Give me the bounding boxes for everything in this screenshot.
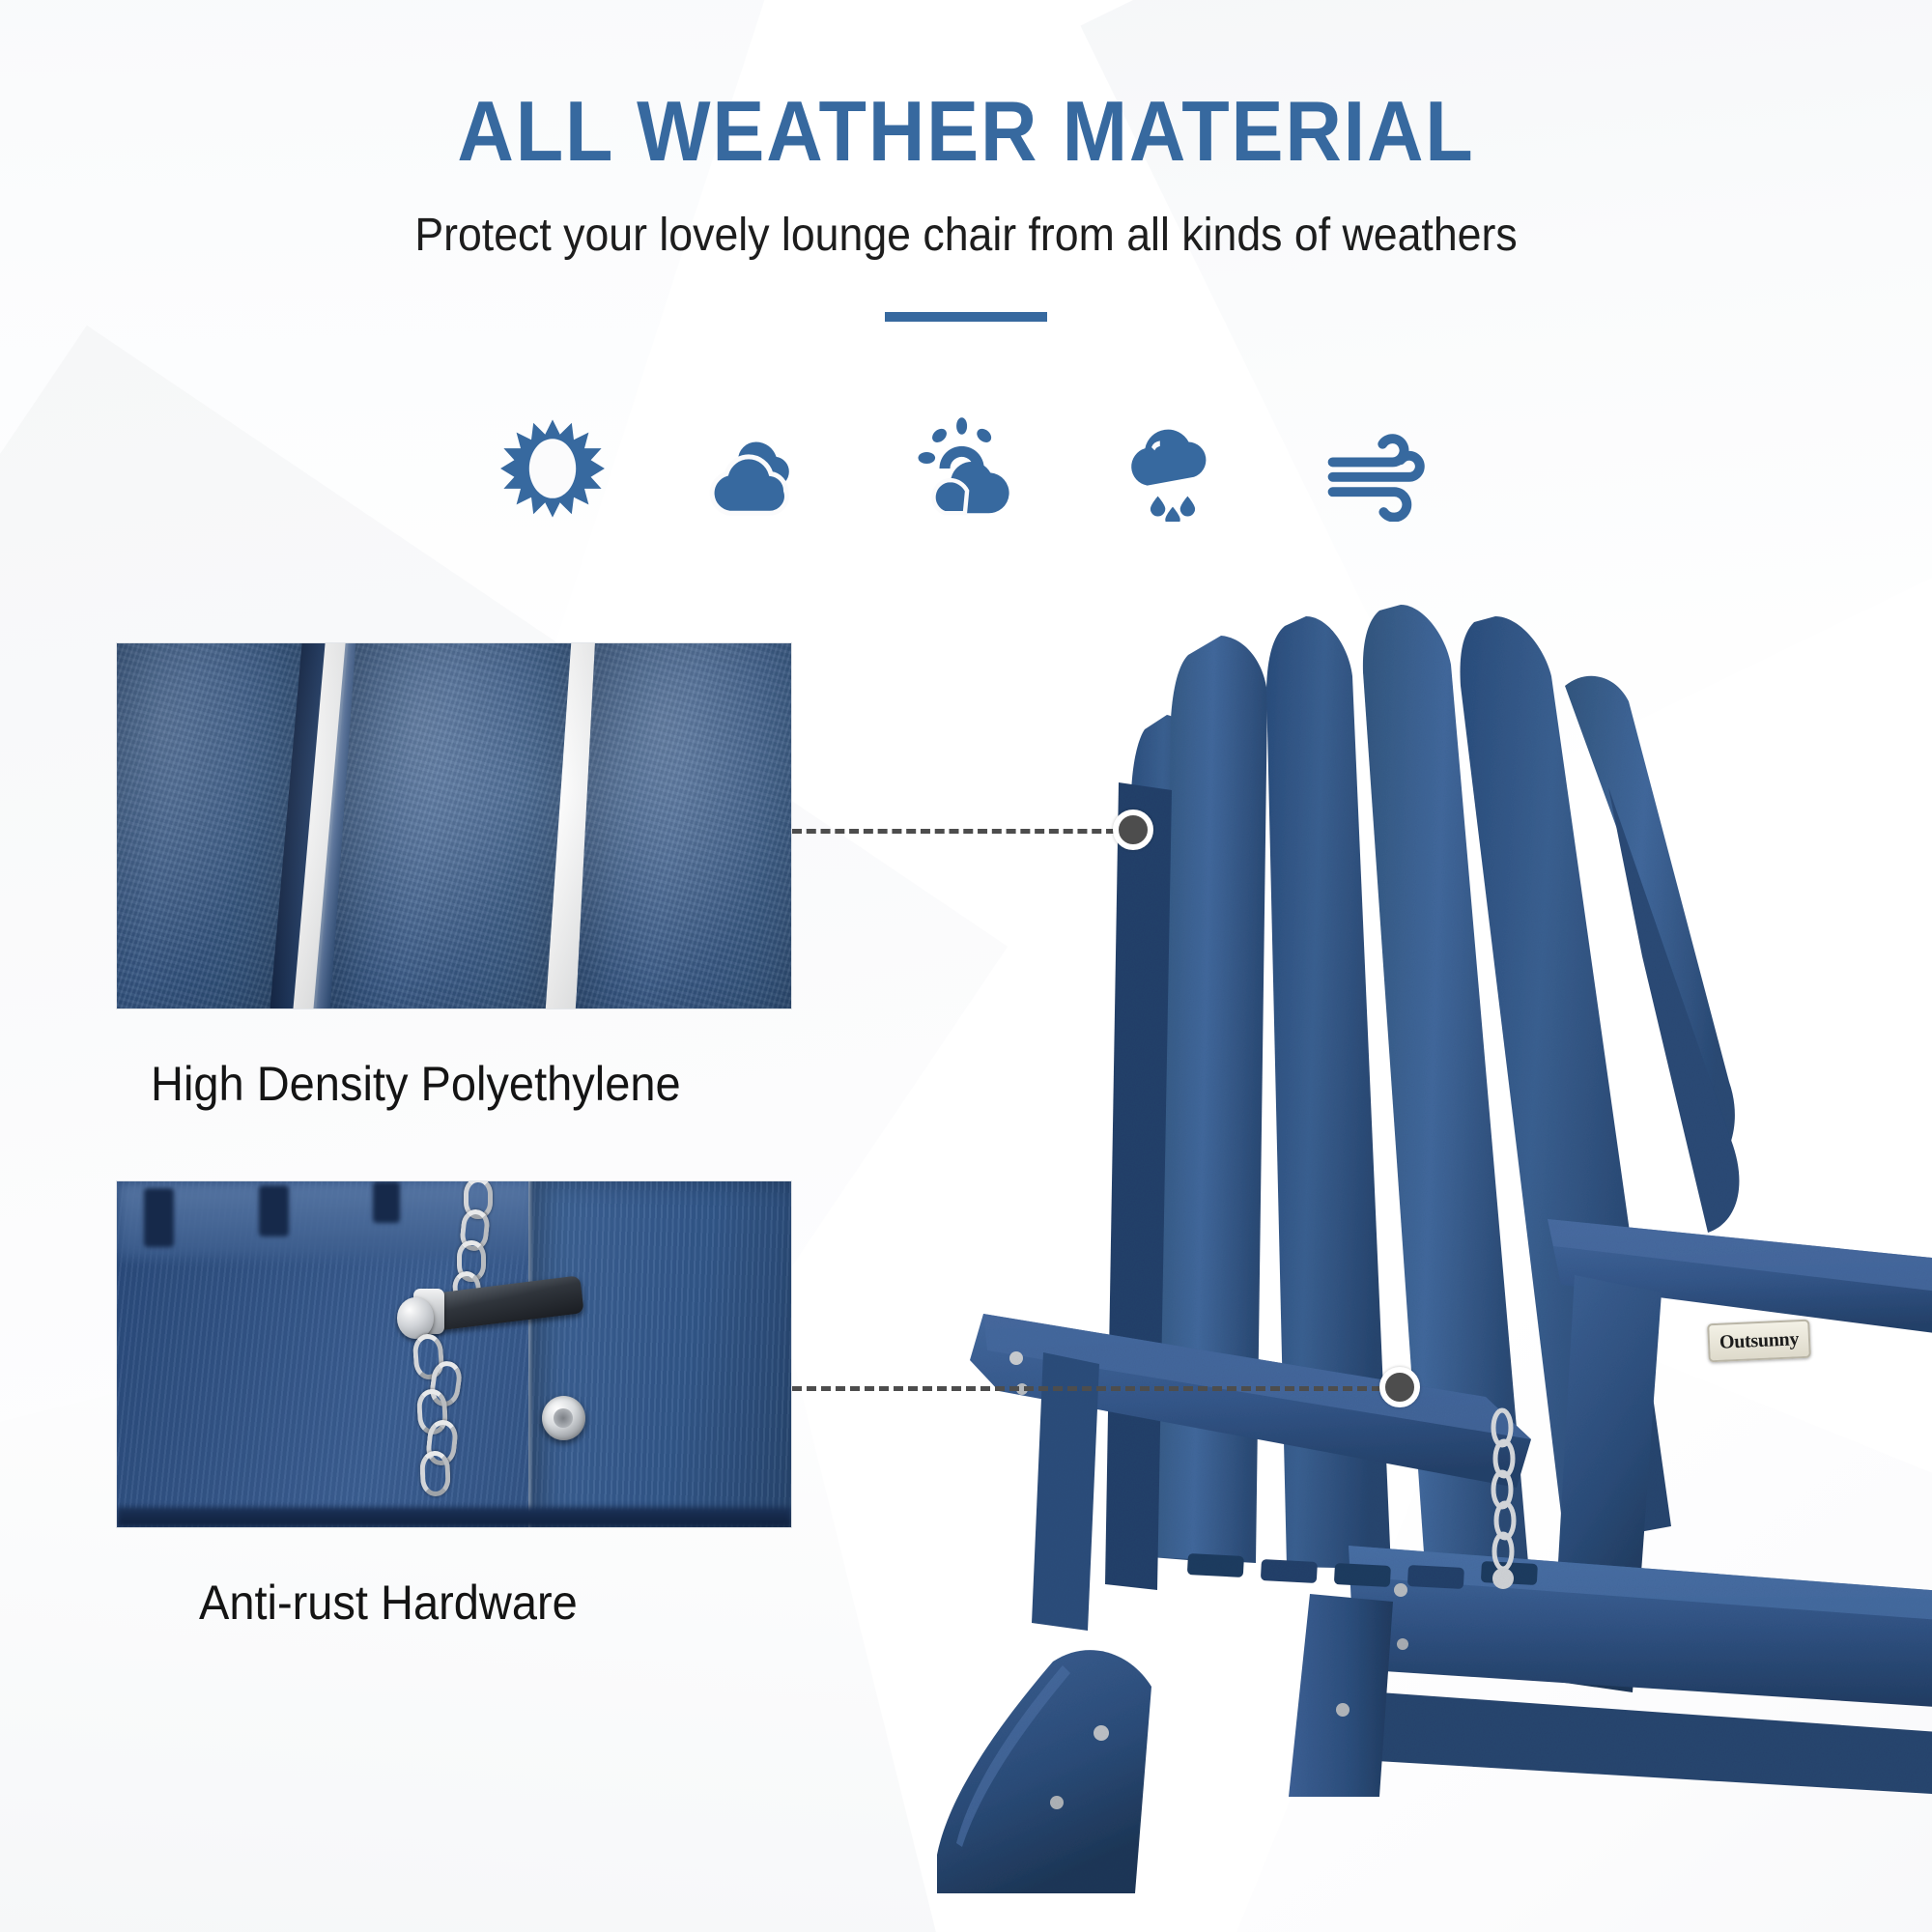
front-rail-screw-2 bbox=[1397, 1638, 1408, 1650]
detail-card-hardware: Anti-rust Hardware bbox=[116, 1180, 792, 1631]
wind-icon bbox=[1322, 415, 1436, 522]
chair-chain-pin bbox=[1492, 1568, 1514, 1589]
leader-line-hdpe bbox=[792, 829, 1116, 834]
front-leg-screw bbox=[1336, 1703, 1350, 1717]
chair-back-right-rail bbox=[1608, 787, 1739, 1233]
weather-icon-row bbox=[0, 415, 1932, 522]
partly-cloudy-icon bbox=[909, 415, 1023, 522]
brand-badge: Outsunny bbox=[1707, 1320, 1811, 1363]
callout-dot-hardware bbox=[1379, 1367, 1420, 1407]
detail-caption-hdpe: High Density Polyethylene bbox=[151, 1056, 753, 1112]
detail-photo-hardware bbox=[116, 1180, 792, 1528]
infographic-poster: ALL WEATHER MATERIAL Protect your lovely… bbox=[0, 0, 1932, 1932]
rain-cloud-icon bbox=[1116, 415, 1230, 522]
base-runner-screw-2 bbox=[1050, 1796, 1064, 1809]
detail-caption-hardware: Anti-rust Hardware bbox=[199, 1575, 756, 1631]
detail-card-hdpe: High Density Polyethylene bbox=[116, 642, 792, 1112]
detail-photo-hdpe bbox=[116, 642, 792, 1009]
front-rail-screw-1 bbox=[1394, 1583, 1407, 1597]
sun-icon bbox=[496, 415, 610, 522]
callout-dot-hdpe bbox=[1113, 810, 1153, 850]
brand-badge-label: Outsunny bbox=[1719, 1328, 1799, 1354]
page-subtitle: Protect your lovely lounge chair from al… bbox=[68, 211, 1864, 262]
base-runner-screw-1 bbox=[1094, 1725, 1109, 1741]
leader-line-hardware bbox=[792, 1386, 1381, 1391]
title-divider bbox=[885, 312, 1047, 322]
chair-lower-stretcher bbox=[1352, 1690, 1932, 1797]
cloudy-icon bbox=[702, 415, 816, 522]
chair-arm-support-post bbox=[1032, 1352, 1099, 1631]
chair-base-runner-left bbox=[937, 1650, 1151, 1893]
page-title: ALL WEATHER MATERIAL bbox=[77, 89, 1855, 174]
header-block: ALL WEATHER MATERIAL Protect your lovely… bbox=[0, 89, 1932, 322]
armrest-screw-1 bbox=[1009, 1351, 1023, 1365]
chair-front-leg bbox=[1289, 1594, 1393, 1797]
product-image-adirondack-chair bbox=[898, 541, 1932, 1797]
